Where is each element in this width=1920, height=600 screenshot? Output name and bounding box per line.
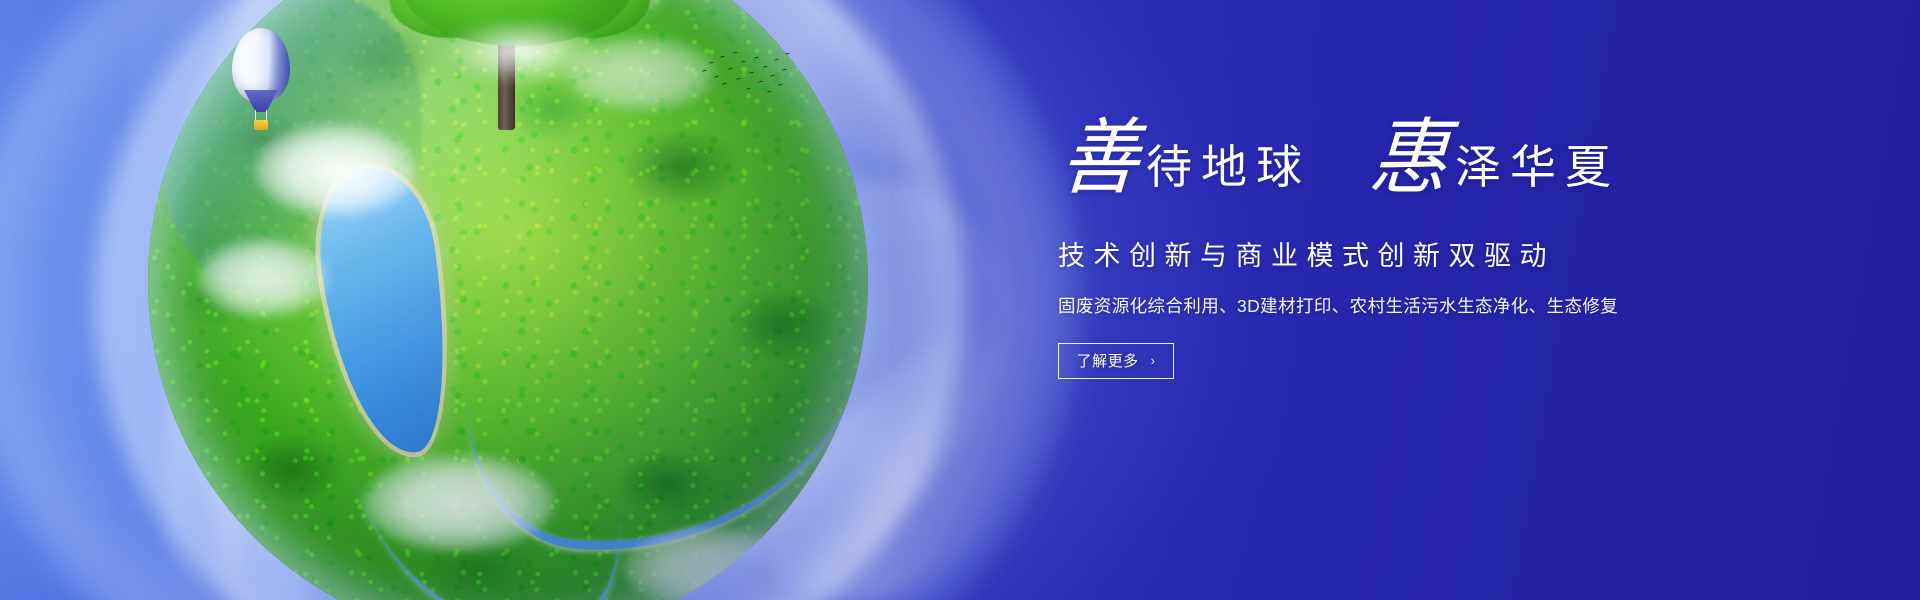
hot-air-balloon-icon — [232, 28, 294, 136]
page-title: 善 待地球 惠 泽华夏 — [1058, 122, 1818, 226]
bird-icon — [758, 80, 764, 84]
tree-icon — [390, 0, 650, 140]
bird-icon — [754, 56, 760, 60]
bird-icon — [720, 55, 726, 59]
bird-flock-icon — [700, 50, 786, 102]
learn-more-button[interactable]: 了解更多 › — [1058, 343, 1174, 379]
bird-icon — [714, 75, 720, 79]
banner-copy: 善 待地球 惠 泽华夏 技术创新与商业模式创新双驱动 固废资源化综合利用、3D建… — [1058, 122, 1818, 379]
banner-subtitle: 技术创新与商业模式创新双驱动 — [1058, 240, 1818, 272]
bird-icon — [741, 60, 747, 64]
bird-icon — [767, 90, 773, 94]
bird-icon — [702, 69, 708, 73]
headline-lead-1: 善 — [1058, 117, 1146, 200]
headline-rest-1: 待地球 — [1140, 145, 1311, 191]
learn-more-label: 了解更多 — [1077, 350, 1139, 371]
headline-rest-2: 泽华夏 — [1449, 145, 1620, 191]
headline-lead-2: 惠 — [1367, 117, 1455, 200]
bird-icon — [722, 82, 728, 86]
balloon-basket — [254, 120, 268, 130]
bird-icon — [774, 58, 780, 62]
bird-icon — [709, 61, 715, 65]
bird-icon — [733, 51, 739, 55]
chevron-right-icon: › — [1151, 354, 1156, 367]
balloon-skirt — [244, 90, 278, 112]
bird-icon — [728, 67, 734, 71]
tree-mist — [442, 18, 602, 84]
bird-icon — [736, 77, 742, 81]
hero-banner: 善 待地球 惠 泽华夏 技术创新与商业模式创新双驱动 固废资源化综合利用、3D建… — [0, 0, 1920, 600]
bird-icon — [778, 83, 784, 87]
bird-icon — [746, 87, 752, 91]
bird-icon — [763, 65, 769, 69]
banner-description: 固废资源化综合利用、3D建材打印、农村生活污水生态净化、生态修复 — [1058, 294, 1818, 319]
bird-icon — [749, 71, 755, 75]
bird-icon — [770, 74, 776, 78]
